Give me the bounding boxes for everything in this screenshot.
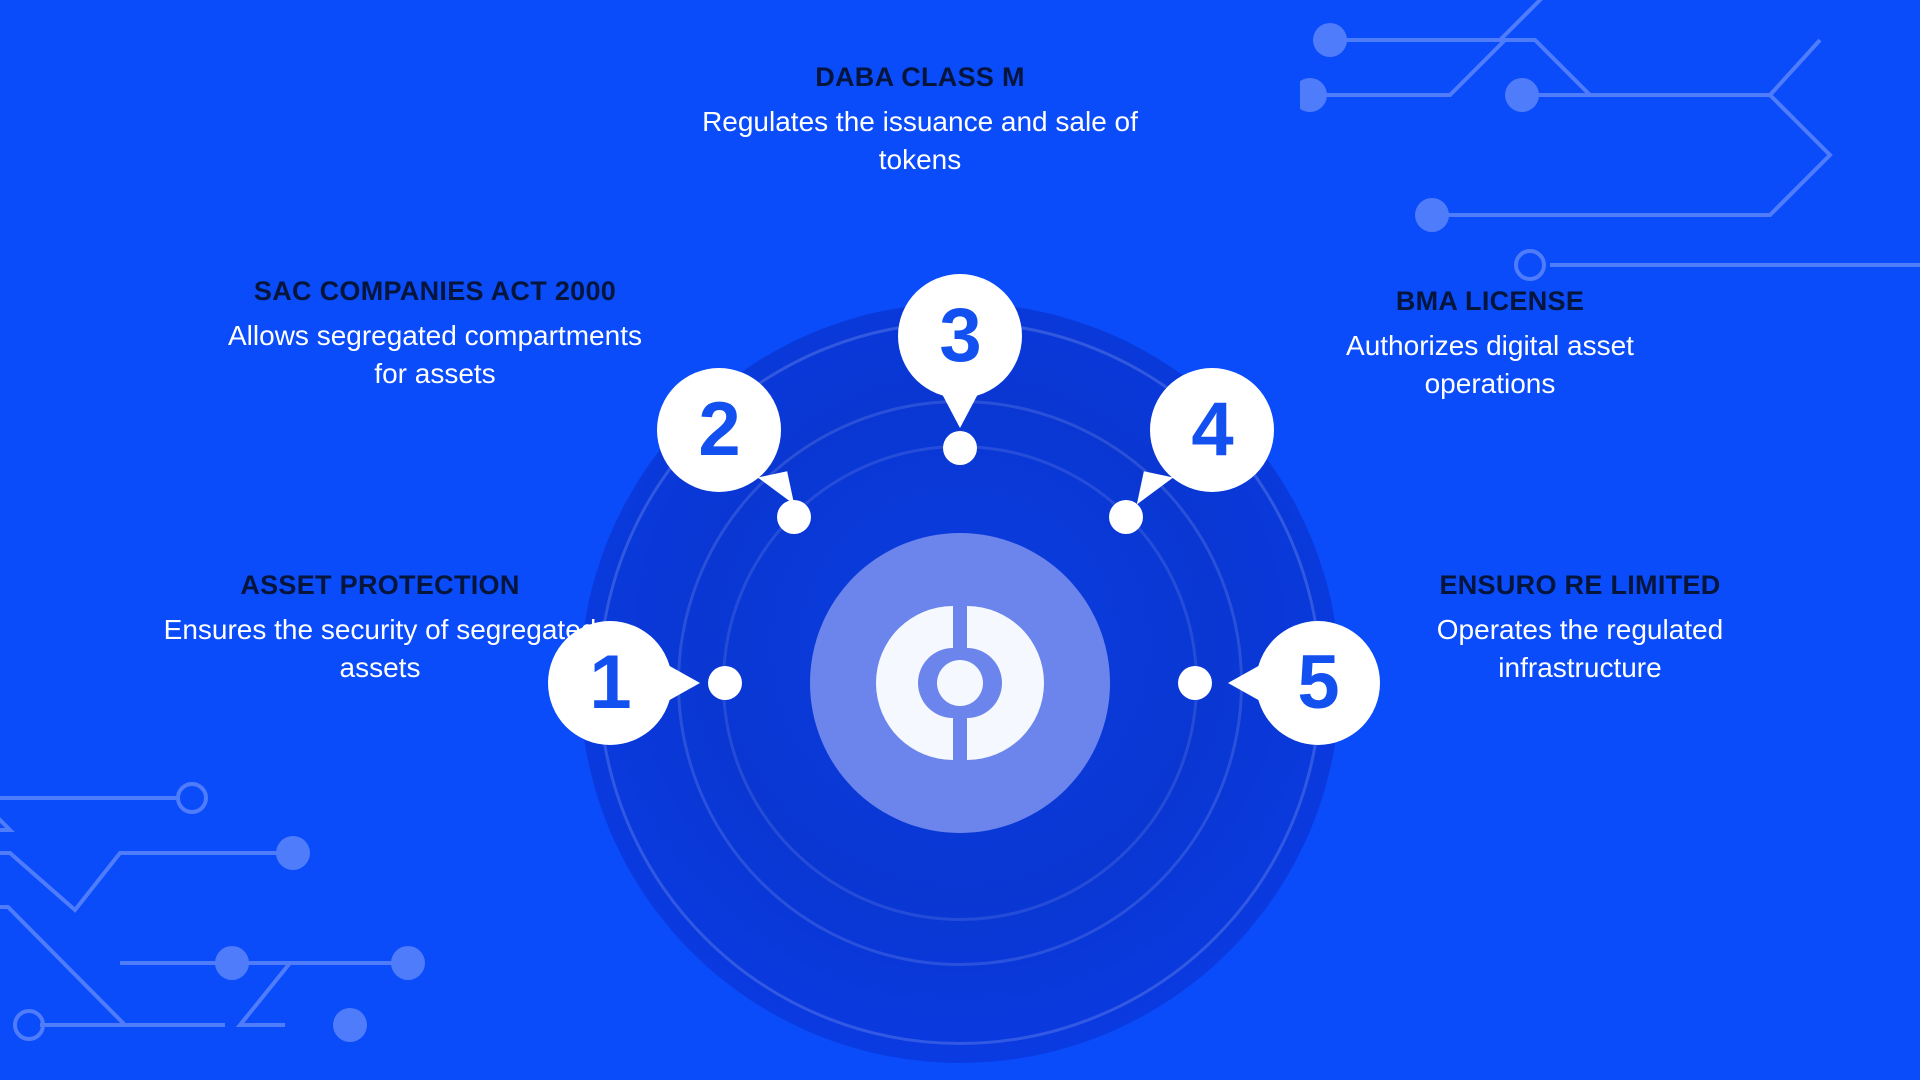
step-bubble-1-tail: [666, 664, 700, 702]
label-block-ensuro-re-limited: ENSURO RE LIMITED Operates the regulated…: [1370, 570, 1790, 686]
step-bubble-3-disc: 3: [898, 274, 1022, 398]
step-number-4: 4: [1191, 392, 1232, 468]
step-bubble-4-disc: 4: [1150, 368, 1274, 492]
step-number-5: 5: [1297, 645, 1338, 721]
center-logo-disc: [810, 533, 1110, 833]
step-bubble-5-disc: 5: [1256, 621, 1380, 745]
step-bubble-3[interactable]: 3: [898, 274, 1022, 398]
circuit-decoration-bottom-left: [0, 760, 460, 1080]
label-block-bma-license: BMA LICENSE Authorizes digital asset ope…: [1290, 286, 1690, 402]
label-heading-ensuro-re-limited: ENSURO RE LIMITED: [1370, 570, 1790, 601]
label-body-bma-license: Authorizes digital asset operations: [1290, 327, 1690, 401]
step-bubble-5-tail: [1228, 664, 1262, 702]
infographic-canvas: 1 2 3 4 5 DABA CLASS M Regulates the iss…: [0, 0, 1920, 1080]
step-bubble-5[interactable]: 5: [1256, 621, 1380, 745]
ensuro-split-ring-icon: [875, 598, 1045, 768]
label-body-sac-companies-act: Allows segregated compartments for asset…: [215, 317, 655, 391]
label-block-asset-protection: ASSET PROTECTION Ensures the security of…: [160, 570, 600, 686]
label-body-daba-class-m: Regulates the issuance and sale of token…: [700, 103, 1140, 177]
label-block-daba-class-m: DABA CLASS M Regulates the issuance and …: [700, 62, 1140, 178]
step-number-3: 3: [939, 298, 980, 374]
label-body-ensuro-re-limited: Operates the regulated infrastructure: [1370, 611, 1790, 685]
label-heading-asset-protection: ASSET PROTECTION: [160, 570, 600, 601]
label-block-sac-companies-act: SAC COMPANIES ACT 2000 Allows segregated…: [215, 276, 655, 392]
step-bubble-4[interactable]: 4: [1150, 368, 1274, 492]
orbit-dot-5: [1178, 666, 1212, 700]
step-number-2: 2: [698, 392, 739, 468]
step-bubble-2-disc: 2: [657, 368, 781, 492]
label-body-asset-protection: Ensures the security of segregated asset…: [160, 611, 600, 685]
label-heading-bma-license: BMA LICENSE: [1290, 286, 1690, 317]
step-bubble-3-tail: [941, 392, 979, 428]
orbit-dot-1: [708, 666, 742, 700]
orbit-dot-3: [943, 431, 977, 465]
orbit-dot-4: [1109, 500, 1143, 534]
label-heading-sac-companies-act: SAC COMPANIES ACT 2000: [215, 276, 655, 307]
label-heading-daba-class-m: DABA CLASS M: [700, 62, 1140, 93]
circuit-decoration-top-right: [1300, 0, 1920, 290]
step-bubble-2[interactable]: 2: [657, 368, 781, 492]
